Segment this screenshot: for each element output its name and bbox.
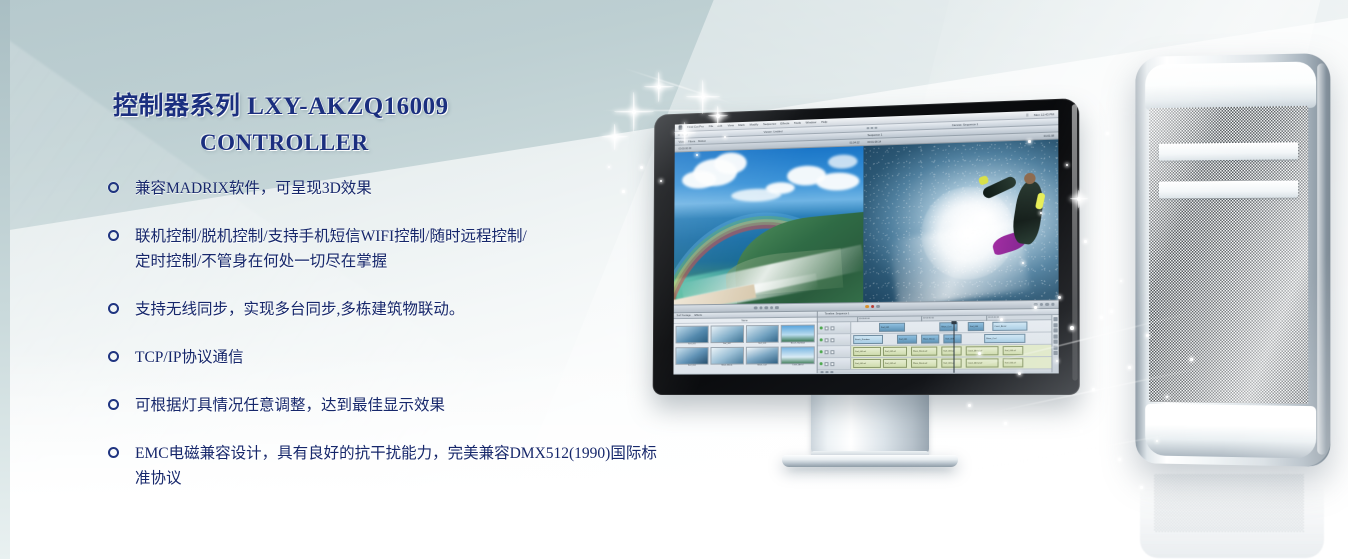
viewer-transport-controls[interactable] xyxy=(674,305,861,311)
zoom-out-button[interactable] xyxy=(1034,303,1038,307)
tab-filters[interactable]: Filters xyxy=(688,139,695,143)
track-mute-box[interactable] xyxy=(830,362,834,366)
tab-video[interactable]: Video xyxy=(679,140,686,144)
list-item: 可根据灯具情况任意调整，达到最佳显示效果 xyxy=(108,393,668,418)
clip-thumbnail-grid: Surf_001 Surf_002 Surf_003 Beach_Ra xyxy=(673,323,816,369)
menu-item-view[interactable]: View xyxy=(727,124,733,127)
page-title-line1: 控制器系列 LXY-AKZQ16009 xyxy=(113,86,449,122)
timeline-clip[interactable]: Surf_002.aif xyxy=(883,359,907,368)
lower-panels: Surf Footage Effects Name Surf_001 Surf_… xyxy=(673,309,1058,374)
apple-logo-icon[interactable] xyxy=(679,125,683,130)
clip-label: Surf_003 xyxy=(745,342,779,345)
timeline-clip[interactable]: Surf_003.aif xyxy=(941,359,961,368)
tower-reflection xyxy=(1140,468,1324,558)
menu-item-edit[interactable]: Edit xyxy=(718,125,723,128)
list-item[interactable]: Wave_Curl xyxy=(745,347,779,367)
list-item[interactable]: Coast_Aerial xyxy=(781,346,815,366)
tower-bottom-panel xyxy=(1145,404,1316,459)
timeline-clip[interactable]: Surf_001 xyxy=(897,335,917,344)
display-screen: Final Cut Pro File Edit View Mark Modify… xyxy=(673,110,1058,374)
clip-thumbnail xyxy=(781,346,815,364)
window-controls[interactable] xyxy=(678,134,688,137)
track-controls[interactable] xyxy=(818,322,851,333)
timeline-clip[interactable]: Surf_004.aif xyxy=(1003,358,1024,367)
menu-item-file[interactable]: File xyxy=(708,125,713,128)
tool-palette[interactable] xyxy=(1051,315,1058,372)
track-lane[interactable]: Surf_001.aif Surf_002.aif Wave_Break.aif… xyxy=(851,345,1059,357)
menu-app-name[interactable]: Final Cut Pro xyxy=(687,125,704,129)
viewer-window-right: Canvas: Sequence 1 Sequence 1 00:01:08:1… xyxy=(863,118,1058,302)
list-item[interactable]: Surf_001 xyxy=(675,326,708,346)
ring-bullet-icon xyxy=(108,447,119,458)
list-item: 支持无线同步，实现多台同步,多栋建筑物联动。 xyxy=(108,297,668,322)
list-item[interactable]: Wave_Break xyxy=(710,347,743,367)
ring-bullet-icon xyxy=(108,303,119,314)
canvas-duration[interactable]: 01:01:08 xyxy=(1044,134,1055,137)
coastal-rainbow-artwork xyxy=(674,146,864,304)
ring-bullet-icon xyxy=(108,230,119,241)
timeline-clip[interactable]: Coast_Aerial.aif xyxy=(966,358,999,367)
tab-surf-footage[interactable]: Surf Footage xyxy=(677,314,691,317)
menu-item-effects[interactable]: Effects xyxy=(780,122,789,125)
timeline-clip[interactable]: Wave_Break xyxy=(921,334,939,343)
next-frame-button[interactable] xyxy=(765,306,768,309)
tower-reflection-mesh xyxy=(1154,474,1304,532)
timeline-clip[interactable]: Wave_Break.aif xyxy=(911,359,937,368)
tool-icon[interactable] xyxy=(1053,328,1057,332)
clip-label: Surf_002 xyxy=(710,343,743,346)
menu-item-mark[interactable]: Mark xyxy=(738,124,745,127)
tool-icon[interactable] xyxy=(1053,340,1057,344)
list-item[interactable]: Surf_004 xyxy=(675,347,708,367)
track-enable-led[interactable] xyxy=(820,362,822,364)
canvas-image xyxy=(863,140,1058,303)
browser-panel: Surf Footage Effects Name Surf_001 Surf_… xyxy=(673,312,817,374)
list-item: EMC电磁兼容设计，具有良好的抗干扰能力，完美兼容DMX512(1990)国际标… xyxy=(108,441,668,491)
menubar-clock[interactable]: Mon 12:43 PM xyxy=(1034,112,1054,117)
track-visibility-box[interactable] xyxy=(830,326,834,330)
timeline-clip[interactable]: Beach_Rainbow xyxy=(853,335,883,344)
view-options-button[interactable] xyxy=(1051,303,1055,307)
menu-item-window[interactable]: Window xyxy=(806,121,817,124)
track-mute-box[interactable] xyxy=(830,350,834,354)
timeline-clip[interactable]: Surf_003 xyxy=(943,334,961,343)
clip-thumbnail xyxy=(745,325,779,343)
timeline-clip[interactable]: Surf_003.aif xyxy=(941,346,961,355)
clip-thumbnail xyxy=(710,325,743,343)
track-enable-led[interactable] xyxy=(820,339,822,341)
timeline-clip[interactable]: Surf_004.aif xyxy=(1003,346,1024,355)
list-item[interactable]: Surf_003 xyxy=(745,325,779,345)
tool-icon[interactable] xyxy=(1053,351,1057,355)
clip-label: Wave_Break xyxy=(710,364,743,366)
track-controls[interactable] xyxy=(818,358,852,369)
ruler-label: 00:01:00:00 xyxy=(988,316,999,318)
track-visibility-box[interactable] xyxy=(830,338,834,342)
mac-pro-tower xyxy=(1135,53,1330,467)
tool-icon[interactable] xyxy=(1053,323,1057,327)
tool-icon[interactable] xyxy=(1053,345,1057,349)
feature-text: 联机控制/脱机控制/支持手机短信WIFI控制/随时远程控制/ 定时控制/不管身在… xyxy=(135,224,527,274)
viewer-left-duration[interactable]: 01:04:12 xyxy=(850,141,860,144)
track-controls[interactable] xyxy=(818,334,852,345)
list-item[interactable]: Beach_Rainbow xyxy=(781,325,815,345)
ring-bullet-icon xyxy=(108,351,119,362)
clip-label: Surf_001 xyxy=(675,343,708,346)
text-panel: 控制器系列 LXY-AKZQ16009 CONTROLLER 兼容MADRIX软… xyxy=(0,0,660,559)
feature-list: 兼容MADRIX软件，可呈现3D效果 联机控制/脱机控制/支持手机短信WIFI控… xyxy=(108,176,668,514)
ring-bullet-icon xyxy=(108,182,119,193)
menu-item-tools[interactable]: Tools xyxy=(794,122,801,125)
cinema-display: Final Cut Pro File Edit View Mark Modify… xyxy=(653,98,1080,395)
track-enable-led[interactable] xyxy=(820,351,822,353)
timeline-audio-track-1: Surf_001.aif Surf_002.aif Wave_Break.aif… xyxy=(818,345,1059,359)
timeline-clip[interactable]: Wave_Break.aif xyxy=(911,347,937,356)
timeline-clip[interactable]: Surf_001.aif xyxy=(853,359,881,368)
menu-item-sequence[interactable]: Sequence xyxy=(763,123,776,126)
track-lane[interactable]: Beach_Rainbow Surf_001 Wave_Break Surf_0… xyxy=(851,332,1059,345)
tool-icon[interactable] xyxy=(1053,317,1057,321)
timeline-clip[interactable]: Coast_Aerial.aif xyxy=(966,346,999,355)
viewer-left-timecode[interactable]: 00:00:00:00 xyxy=(678,147,691,150)
mark-in-button[interactable] xyxy=(770,306,773,309)
ruler-label: 00:00:30:00 xyxy=(923,317,934,319)
tab-sequence-1[interactable]: Sequence 1 xyxy=(867,133,882,137)
track-controls[interactable] xyxy=(818,346,852,357)
viewer-left-image xyxy=(674,146,864,304)
surfer-wave-artwork xyxy=(863,140,1058,303)
clip-label: Surf_004 xyxy=(675,364,708,366)
timeline-clip[interactable]: Surf_002 xyxy=(879,323,905,332)
tool-icon[interactable] xyxy=(1053,334,1057,338)
optical-drive-slot-2[interactable] xyxy=(1159,181,1298,199)
prev-frame-button[interactable] xyxy=(759,306,762,309)
clip-label: Wave_Curl xyxy=(745,364,779,367)
timeline-clip[interactable]: Coast_Aerial xyxy=(992,321,1027,330)
render-indicator xyxy=(865,305,868,309)
play-button[interactable] xyxy=(754,306,757,309)
timeline-clip[interactable]: Wave_Curl xyxy=(984,334,1025,343)
clip-thumbnail xyxy=(675,326,708,343)
timeline-footer-controls[interactable] xyxy=(818,369,1059,373)
timeline-clip[interactable]: Surf_002.aif xyxy=(883,347,907,356)
timeline-panel: Timeline: Sequence 1 00:00:00:00 00:00:3… xyxy=(818,309,1059,373)
track-lane[interactable]: Surf_001.aif Surf_002.aif Wave_Break.aif… xyxy=(851,357,1059,369)
timeline-title: Timeline: Sequence 1 xyxy=(825,312,850,315)
timeline-clip[interactable]: Surf_001.aif xyxy=(853,347,881,356)
timeline-clip[interactable]: Surf_004 xyxy=(968,322,984,331)
optical-drive-slot-1[interactable] xyxy=(1159,142,1298,160)
monitor-stand-base xyxy=(782,455,958,467)
bezel-highlight xyxy=(1072,104,1078,380)
clip-thumbnail xyxy=(675,347,708,364)
monitor-stand-neck xyxy=(811,392,929,454)
insert-button[interactable] xyxy=(876,305,879,309)
window-controls[interactable] xyxy=(866,127,876,130)
fit-button[interactable] xyxy=(1045,303,1049,307)
track-lock-box[interactable] xyxy=(824,338,828,342)
playhead[interactable] xyxy=(953,321,954,373)
track-lock-box[interactable] xyxy=(824,350,828,354)
tab-motion[interactable]: Motion xyxy=(698,139,706,143)
timeline-tracks: Surf_002 Wave_Curl Surf_004 Coast_Aerial xyxy=(818,320,1059,373)
page-title-line2: CONTROLLER xyxy=(200,130,369,156)
razor-tool[interactable] xyxy=(825,371,828,373)
list-item[interactable]: Surf_002 xyxy=(710,325,743,345)
list-item: 联机控制/脱机控制/支持手机短信WIFI控制/随时远程控制/ 定时控制/不管身在… xyxy=(108,224,668,274)
canvas-timecode[interactable]: 00:01:08:14 xyxy=(867,140,881,143)
feature-text: EMC电磁兼容设计，具有良好的抗干扰能力，完美兼容DMX512(1990)国际标… xyxy=(135,441,668,491)
canvas-transport-controls[interactable] xyxy=(861,302,1058,308)
list-item: 兼容MADRIX软件，可呈现3D效果 xyxy=(108,176,668,201)
menu-item-modify[interactable]: Modify xyxy=(749,123,758,126)
track-lock-box[interactable] xyxy=(824,326,828,330)
clip-label: Beach_Rainbow xyxy=(781,342,815,345)
feature-text: 兼容MADRIX软件，可呈现3D效果 xyxy=(135,176,372,201)
viewer-window-left: Viewer: Untitled Video Filters Motion 00… xyxy=(674,125,864,304)
selection-tool[interactable] xyxy=(821,371,824,373)
wifi-icon[interactable]: ☰ xyxy=(1026,113,1029,117)
clip-label: Coast_Aerial xyxy=(781,364,815,367)
clip-thumbnail xyxy=(781,325,815,343)
zoom-in-button[interactable] xyxy=(1039,303,1043,307)
record-button[interactable] xyxy=(871,305,874,309)
list-item: TCP/IP协议通信 xyxy=(108,345,668,370)
track-enable-led[interactable] xyxy=(820,327,822,330)
feature-text: 可根据灯具情况任意调整，达到最佳显示效果 xyxy=(135,393,445,418)
tower-top-panel xyxy=(1145,61,1316,110)
ruler-label: 00:00:00:00 xyxy=(859,318,870,320)
ring-bullet-icon xyxy=(108,399,119,410)
feature-text: 支持无线同步，实现多台同步,多栋建筑物联动。 xyxy=(135,297,464,322)
track-lock-box[interactable] xyxy=(824,362,828,366)
tab-effects[interactable]: Effects xyxy=(695,314,702,317)
feature-text: TCP/IP协议通信 xyxy=(135,345,244,370)
menu-item-help[interactable]: Help xyxy=(821,121,827,124)
clip-thumbnail xyxy=(710,347,743,364)
viewer-windows: Viewer: Untitled Video Filters Motion 00… xyxy=(674,118,1059,304)
zoom-slider[interactable] xyxy=(830,371,833,373)
mark-out-button[interactable] xyxy=(775,306,778,309)
timeline-audio-track-2: Surf_001.aif Surf_002.aif Wave_Break.aif… xyxy=(818,357,1059,370)
tower-right-edge xyxy=(1317,63,1326,454)
banner-canvas: 控制器系列 LXY-AKZQ16009 CONTROLLER 兼容MADRIX软… xyxy=(0,0,1348,559)
clip-thumbnail xyxy=(745,347,779,365)
